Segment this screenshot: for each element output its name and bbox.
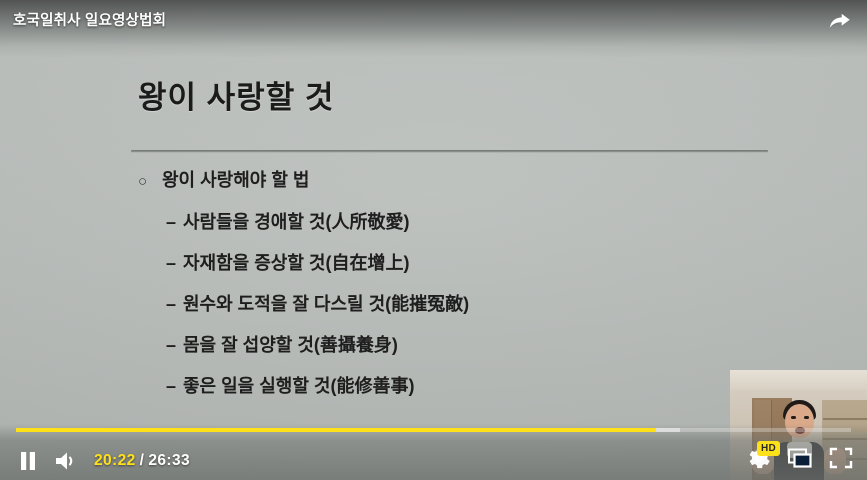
fullscreen-icon[interactable]: [829, 447, 853, 469]
bullet-item: – 원수와 도적을 잘 다스릴 것(能摧冤敵): [166, 290, 818, 316]
slide-bullet-list: ○ 왕이 사랑해야 할 법 – 사람들을 경애할 것(人所敬愛) – 자재함을 …: [138, 166, 818, 413]
bullet-item: – 좋은 일을 실행할 것(能修善事): [166, 372, 818, 398]
time-separator: /: [140, 452, 145, 469]
bullet-marker-dash: –: [166, 335, 183, 356]
slide-title: 왕이 사랑할 것: [138, 72, 334, 117]
duration-time: 26:33: [148, 452, 190, 469]
controls-left-group: 20:22/26:33: [18, 450, 190, 472]
channel-title: 호국일취사 일요영상법회: [13, 9, 166, 30]
current-time: 20:22: [94, 452, 136, 469]
bullet-item: – 몸을 잘 섭양할 것(善攝養身): [166, 331, 818, 357]
bullet-item: ○ 왕이 사랑해야 할 법: [138, 166, 818, 192]
bullet-marker-dash: –: [166, 253, 183, 274]
bullet-text: 좋은 일을 실행할 것(能修善事): [183, 372, 414, 398]
player-top-bar: 호국일취사 일요영상법회: [0, 0, 867, 58]
quality-badge: HD: [757, 441, 780, 456]
title-divider: [131, 150, 768, 153]
miniplayer-icon[interactable]: [787, 447, 813, 469]
bullet-marker-circle: ○: [138, 173, 162, 190]
bullet-text: 사람들을 경애할 것(人所敬愛): [183, 208, 409, 234]
bullet-marker-dash: –: [166, 294, 183, 315]
pause-icon[interactable]: [18, 450, 38, 472]
progress-bar-played: [16, 428, 656, 432]
bullet-text: 원수와 도적을 잘 다스릴 것(能摧冤敵): [183, 290, 469, 316]
video-player: 왕이 사랑할 것 ○ 왕이 사랑해야 할 법 – 사람들을 경애할 것(人所敬愛…: [0, 0, 867, 480]
bullet-item: – 자재함을 증상할 것(自在增上): [166, 249, 818, 275]
bullet-marker-dash: –: [166, 376, 183, 397]
time-display: 20:22/26:33: [94, 452, 190, 470]
volume-low-icon[interactable]: [54, 450, 78, 472]
bullet-marker-dash: –: [166, 212, 183, 233]
bullet-text: 자재함을 증상할 것(自在增上): [183, 249, 409, 275]
progress-bar-track[interactable]: [16, 428, 851, 432]
share-icon[interactable]: [823, 8, 853, 36]
bullet-text: 왕이 사랑해야 할 법: [162, 166, 309, 192]
bullet-item: – 사람들을 경애할 것(人所敬愛): [166, 208, 818, 234]
gear-icon[interactable]: HD: [747, 446, 771, 470]
controls-right-group: HD: [747, 446, 853, 470]
player-control-bar: 20:22/26:33 HD: [0, 424, 867, 480]
bullet-text: 몸을 잘 섭양할 것(善攝養身): [183, 331, 398, 357]
